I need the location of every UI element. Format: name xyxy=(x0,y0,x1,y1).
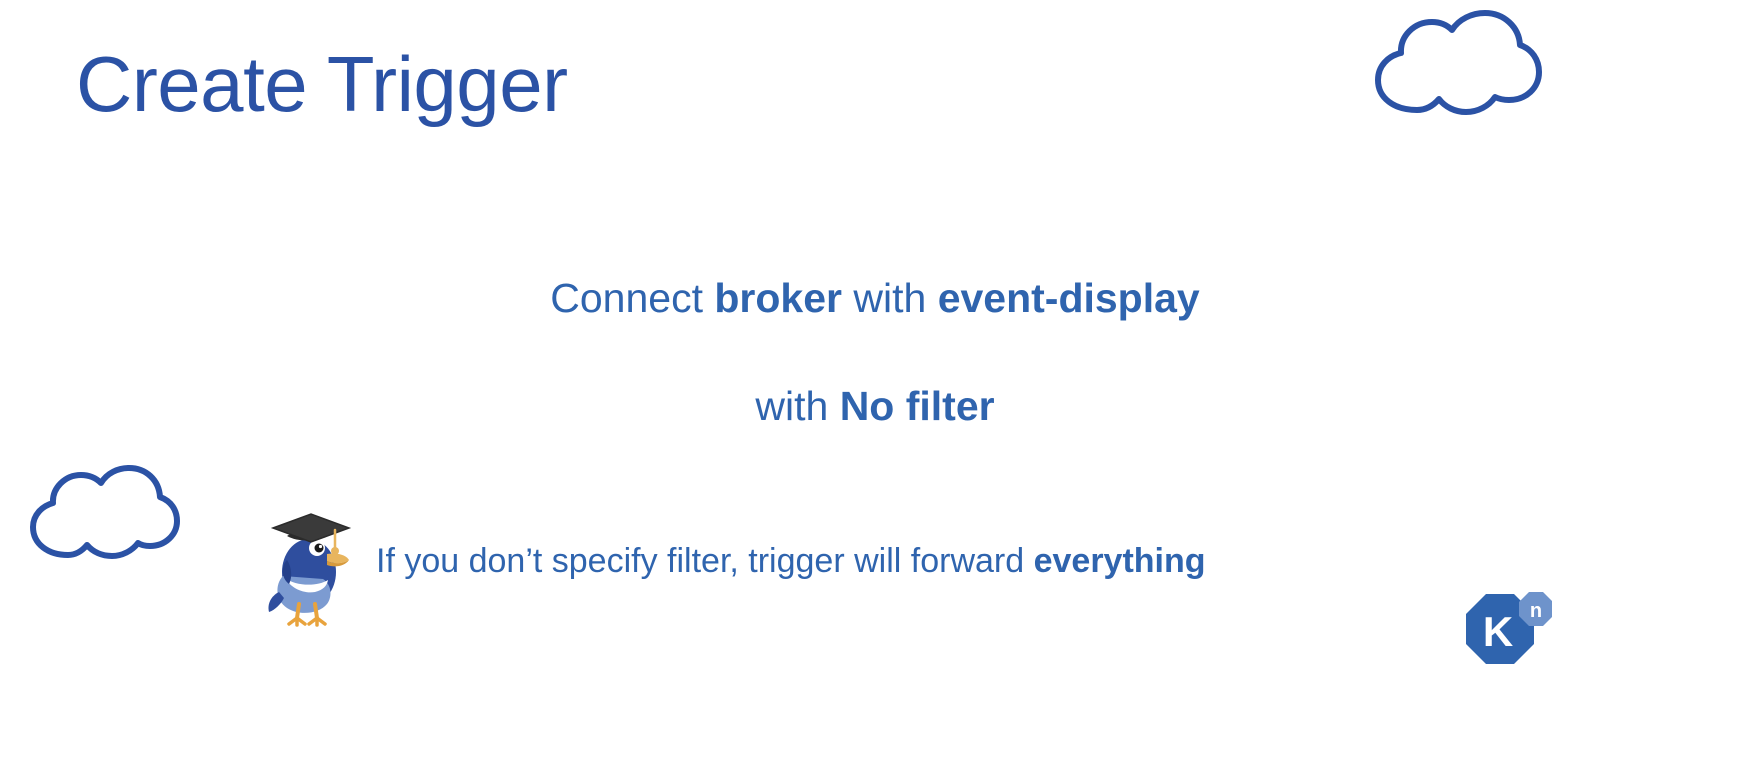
note-prefix: If you don’t specify filter, trigger wil… xyxy=(376,542,1034,580)
graduate-bird-mascot-icon xyxy=(265,500,353,628)
body-line-note: If you don’t specify filter, trigger wil… xyxy=(376,541,1206,582)
slide-canvas: Create Trigger Connect broker with event… xyxy=(0,0,1750,766)
body-line-connect: Connect broker with event-display xyxy=(0,274,1750,323)
body-line-filter: with No filter xyxy=(0,382,1750,431)
connect-bold-broker: broker xyxy=(714,275,842,321)
knative-logo: K n xyxy=(1448,588,1552,680)
connect-bold-event-display: event-display xyxy=(938,275,1200,321)
note-bold-everything: everything xyxy=(1034,542,1206,580)
page-title: Create Trigger xyxy=(76,38,568,130)
knative-logo-letter-n: n xyxy=(1530,600,1542,622)
cloud-outline-icon xyxy=(20,465,180,563)
connect-prefix: Connect xyxy=(550,275,714,321)
connect-middle: with xyxy=(842,275,938,321)
filter-prefix: with xyxy=(755,383,839,429)
knative-logo-letter-k: K xyxy=(1483,608,1513,655)
cloud-outline-icon xyxy=(1362,10,1542,120)
filter-bold-no-filter: No filter xyxy=(840,383,995,429)
